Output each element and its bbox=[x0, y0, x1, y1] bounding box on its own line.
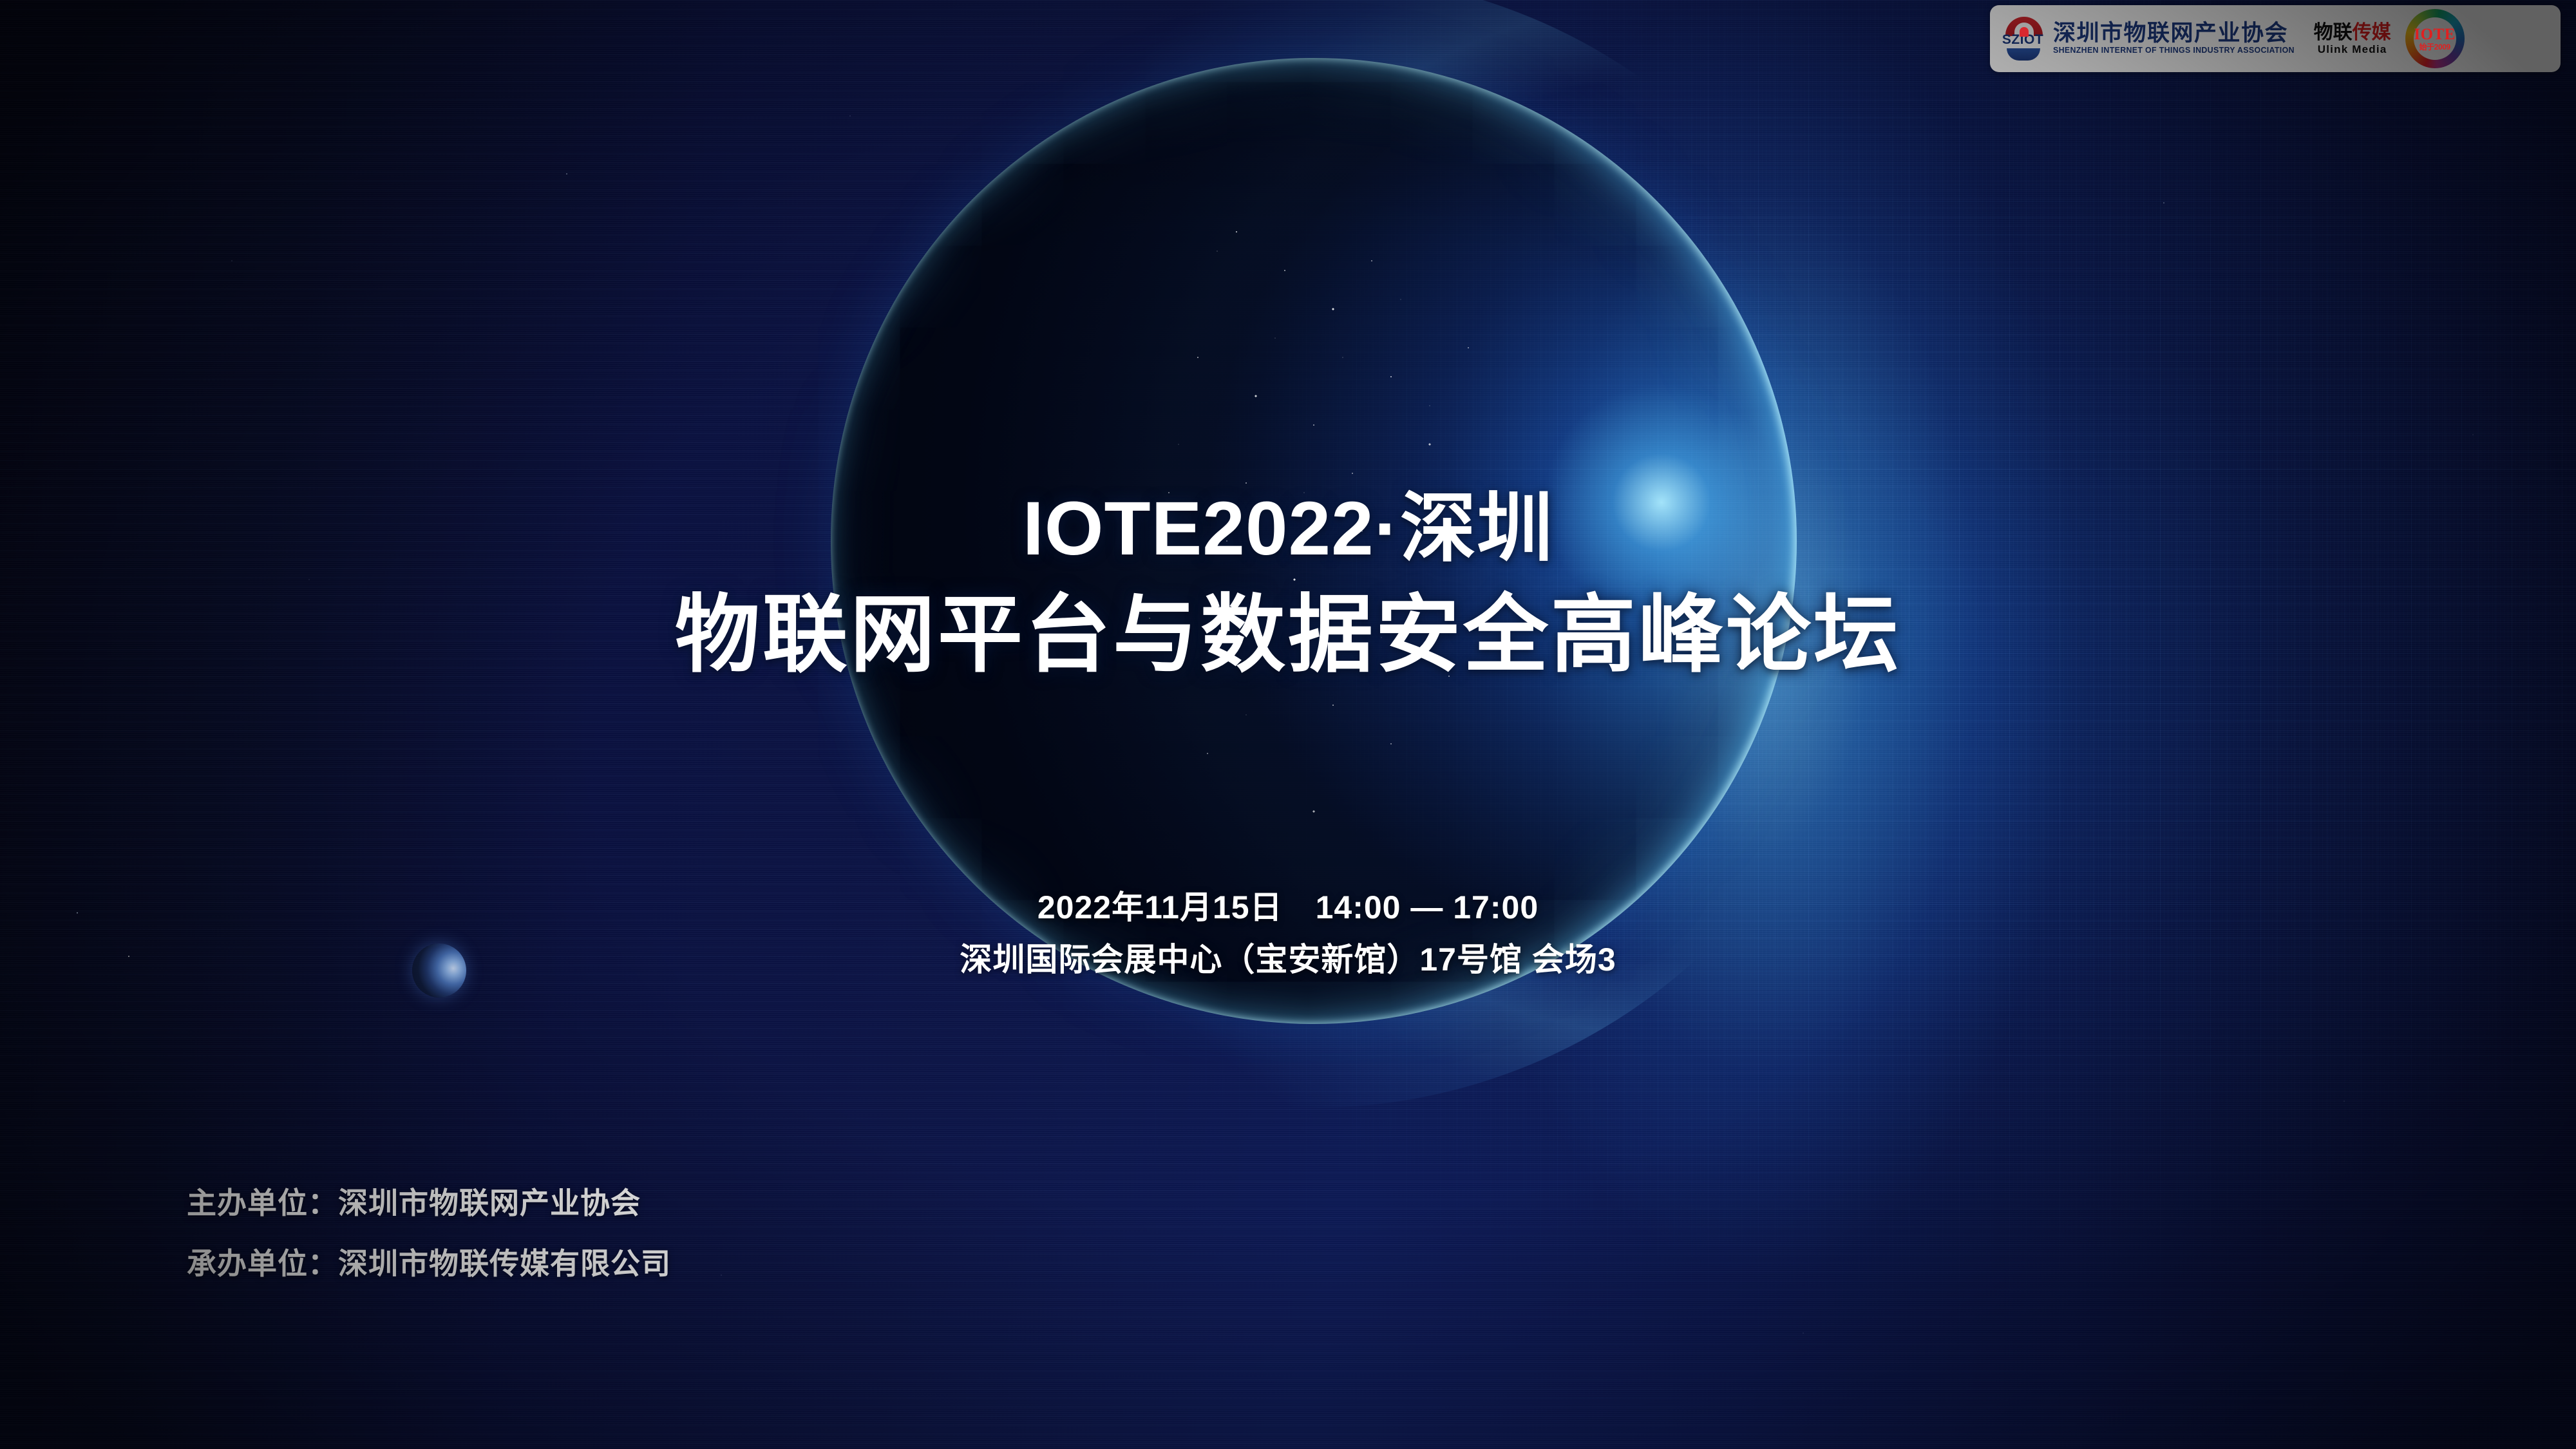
scanline-texture bbox=[0, 0, 2576, 1449]
page-subtitle: 物联网平台与数据安全高峰论坛 bbox=[0, 592, 2576, 677]
ulink-name-cn: 物联传媒 bbox=[2314, 23, 2391, 43]
starfield-graphic bbox=[0, 0, 2576, 1449]
vignette-overlay bbox=[0, 0, 2576, 1449]
iote-rainbow-logo-icon: IOTE 始于2009 bbox=[2405, 9, 2465, 68]
organizers-block: 主办单位：深圳市物联网产业协会 承办单位：深圳市物联传媒有限公司 bbox=[187, 1188, 671, 1278]
host-organization: 主办单位：深圳市物联网产业协会 bbox=[187, 1188, 671, 1218]
event-poster: SZIOT 深圳市物联网产业协会 SHENZHEN INTERNET OF TH… bbox=[0, 0, 2576, 1449]
co-organizer-organization: 承办单位：深圳市物联传媒有限公司 bbox=[187, 1249, 671, 1278]
swoosh-icon bbox=[2007, 48, 2040, 61]
iote-since-label: 始于2009 bbox=[2419, 43, 2450, 51]
page-title: IOTE2022·深圳 bbox=[0, 491, 2576, 567]
event-venue: 深圳国际会展中心（宝安新馆）17号馆 会场3 bbox=[0, 942, 2576, 978]
sziot-name-en: SHENZHEN INTERNET OF THINGS INDUSTRY ASS… bbox=[2053, 46, 2295, 55]
globe-city-lights bbox=[831, 58, 1797, 1024]
headline-block: IOTE2022·深圳 物联网平台与数据安全高峰论坛 bbox=[0, 491, 2576, 677]
sponsor-logo-bar: SZIOT 深圳市物联网产业协会 SHENZHEN INTERNET OF TH… bbox=[1990, 5, 2561, 72]
background-base bbox=[0, 0, 2576, 1449]
ulink-media-logo: 物联传媒 Ulink Media bbox=[2314, 23, 2391, 55]
sziot-logo-icon: SZIOT bbox=[1999, 15, 2047, 62]
sziot-wordmark: 深圳市物联网产业协会 SHENZHEN INTERNET OF THINGS I… bbox=[2053, 22, 2297, 55]
globe-sphere bbox=[831, 58, 1797, 1024]
moon-graphic bbox=[412, 943, 466, 998]
sziot-name-cn: 深圳市物联网产业协会 bbox=[2053, 22, 2297, 46]
event-datetime: 2022年11月15日 14:00 — 17:00 bbox=[0, 890, 2576, 925]
earth-globe-graphic bbox=[831, 58, 1797, 1024]
iote-logo-text: IOTE 始于2009 bbox=[2414, 26, 2456, 51]
ulink-name-en: Ulink Media bbox=[2318, 44, 2387, 55]
globe-atmosphere-halo bbox=[747, 0, 1880, 1108]
event-details-block: 2022年11月15日 14:00 — 17:00 深圳国际会展中心（宝安新馆）… bbox=[0, 890, 2576, 978]
digital-grid-texture bbox=[0, 0, 2576, 1449]
horizontal-band-texture bbox=[0, 0, 2576, 1449]
ulink-name-cn-red: 传媒 bbox=[2353, 22, 2391, 43]
iote-wordmark: IOTE bbox=[2414, 26, 2456, 43]
cyan-glow-overlay bbox=[0, 0, 2576, 1449]
globe-rim-light bbox=[831, 58, 1797, 1024]
globe-light-dust bbox=[831, 58, 1797, 1024]
sziot-association-logo: SZIOT 深圳市物联网产业协会 SHENZHEN INTERNET OF TH… bbox=[1999, 15, 2297, 62]
ulink-name-cn-black: 物联 bbox=[2314, 22, 2353, 43]
